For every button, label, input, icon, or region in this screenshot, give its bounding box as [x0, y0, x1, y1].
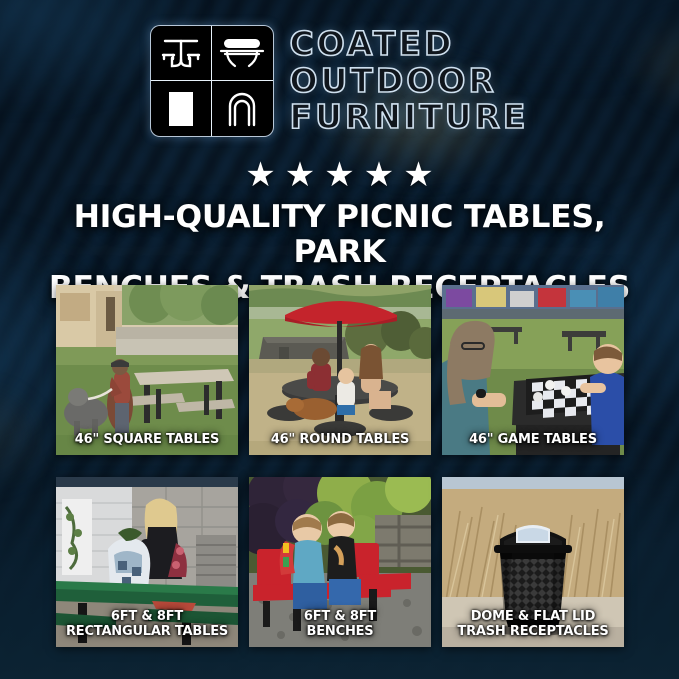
product-photo-round-tables: [249, 285, 431, 455]
logo-icon-grid: [151, 26, 273, 136]
product-caption: 6FT & 8FT RECTANGULAR TABLES: [60, 610, 234, 639]
wordmark-line-coated: COATED: [290, 27, 529, 62]
product-tile-square-tables[interactable]: 46" SQUARE TABLES: [56, 285, 238, 455]
product-tile-trash-receptacles[interactable]: DOME & FLAT LID TRASH RECEPTACLES: [442, 477, 624, 647]
caption-line-1: 6FT & 8FT: [253, 610, 427, 624]
caption-line-1: 46" SQUARE TABLES: [60, 433, 234, 447]
brand-logo: COATED OUTDOOR FURNITURE: [0, 26, 679, 136]
promo-banner: COATED OUTDOOR FURNITURE ★ ★ ★ ★ ★ HIGH-…: [0, 0, 679, 679]
product-tile-benches[interactable]: 6FT & 8FT BENCHES: [249, 477, 431, 647]
product-tile-rectangular-tables[interactable]: 6FT & 8FT RECTANGULAR TABLES: [56, 477, 238, 647]
brand-wordmark: COATED OUTDOOR FURNITURE: [290, 27, 529, 136]
product-caption: 6FT & 8FT BENCHES: [253, 610, 427, 639]
caption-line-1: 46" ROUND TABLES: [253, 433, 427, 447]
product-caption: 46" ROUND TABLES: [253, 433, 427, 447]
star-icon: ★: [245, 158, 275, 192]
trash-receptacle-icon: [151, 81, 212, 136]
product-photo-square-tables: [56, 285, 238, 455]
star-icon: ★: [285, 158, 315, 192]
caption-line-2: TRASH RECEPTACLES: [446, 625, 620, 639]
product-caption: DOME & FLAT LID TRASH RECEPTACLES: [446, 610, 620, 639]
wordmark-line-outdoor: OUTDOOR: [290, 64, 529, 99]
product-photo-game-tables: [442, 285, 624, 455]
wordmark-line-furniture: FURNITURE: [290, 100, 529, 135]
star-icon: ★: [364, 158, 394, 192]
caption-line-2: BENCHES: [253, 625, 427, 639]
caption-line-1: 6FT & 8FT: [60, 610, 234, 624]
caption-line-2: RECTANGULAR TABLES: [60, 625, 234, 639]
caption-line-1: 46" GAME TABLES: [446, 433, 620, 447]
bike-rack-arch-icon: [212, 81, 273, 136]
park-bench-icon: [212, 26, 273, 81]
product-tile-game-tables[interactable]: 46" GAME TABLES: [442, 285, 624, 455]
caption-line-1: DOME & FLAT LID: [446, 610, 620, 624]
star-icon: ★: [403, 158, 433, 192]
product-caption: 46" SQUARE TABLES: [60, 433, 234, 447]
star-rating: ★ ★ ★ ★ ★: [0, 158, 679, 192]
product-grid: 46" SQUARE TABLES: [56, 285, 624, 647]
star-icon: ★: [324, 158, 354, 192]
product-caption: 46" GAME TABLES: [446, 433, 620, 447]
picnic-table-icon: [151, 26, 212, 81]
product-tile-round-tables[interactable]: 46" ROUND TABLES: [249, 285, 431, 455]
headline-line-1: HIGH-QUALITY PICNIC TABLES, PARK: [74, 199, 606, 270]
